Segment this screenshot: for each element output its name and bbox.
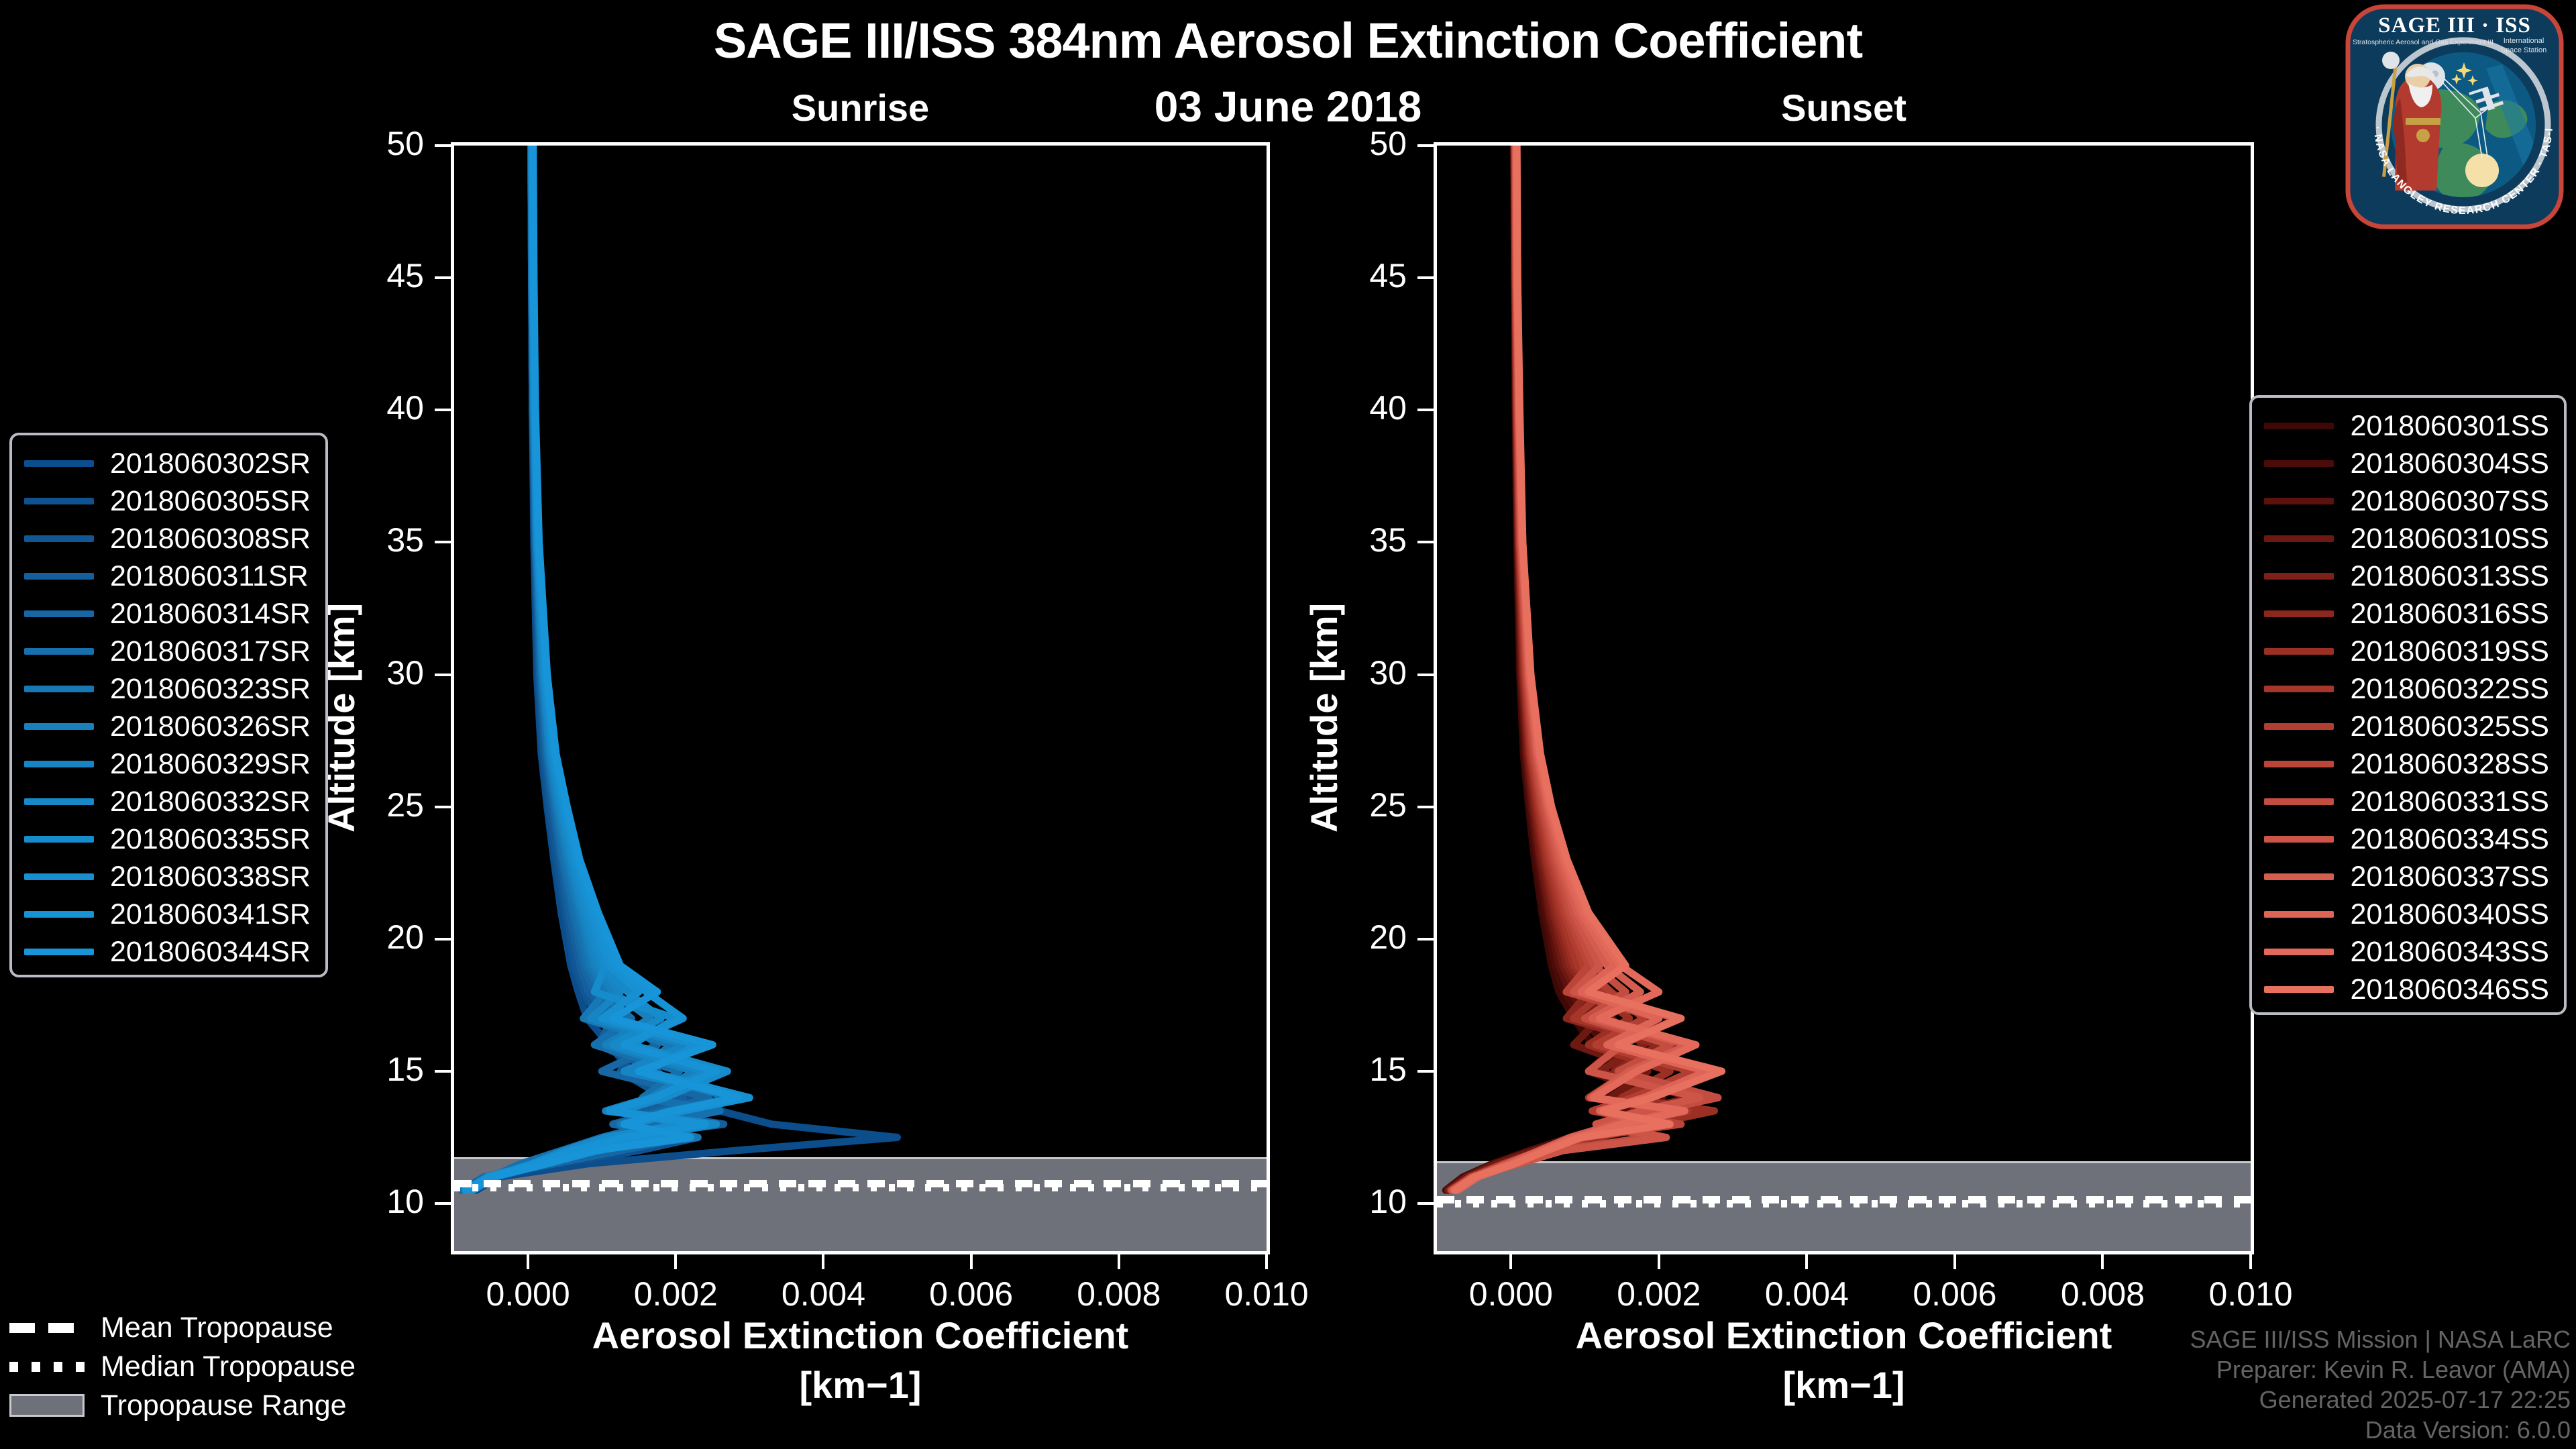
y-tick [1417,674,1434,676]
legend-item[interactable]: 2018060310SS [2264,520,2549,557]
logo-subtitle-right-2: Space Station [2501,46,2547,54]
legend-color-swatch [24,686,94,692]
logo-title: SAGE III · ISS [2378,13,2531,38]
legend-tropopause: Mean Tropopause Median Tropopause Tropop… [9,1308,358,1425]
legend-item[interactable]: 2018060322SS [2264,670,2549,708]
y-tick [435,938,451,941]
legend-item[interactable]: 2018060304SS [2264,445,2549,482]
legend-label: 2018060340SS [2350,898,2549,931]
x-tick [1509,1254,1512,1269]
legend-label: 2018060346SS [2350,973,2549,1006]
y-tick-label: 40 [1320,388,1407,427]
legend-item[interactable]: 2018060344SR [24,933,311,971]
legend-item[interactable]: 2018060308SR [24,520,311,557]
plot-panel-sunset [1434,142,2254,1254]
legend-label: 2018060337SS [2350,861,2549,894]
logo-subtitle-left: Stratospheric Aerosol and Gas Experiment… [2353,38,2493,46]
legend-color-swatch [24,573,94,580]
legend-label: 2018060302SR [110,447,311,480]
footer-preparer: Preparer: Kevin R. Leavor (AMA) [2190,1354,2571,1385]
legend-label: 2018060301SS [2350,410,2549,443]
y-tick [435,1070,451,1073]
sunrise-x-axis-units: [km−1] [451,1363,1270,1407]
legend-label: 2018060341SR [110,898,311,931]
sunrise-panel-title: Sunrise [451,86,1270,129]
sunset-series-lines [1437,146,2251,1251]
legend-item-median-tropopause: Median Tropopause [9,1347,358,1386]
footer-generated: Generated 2025-07-17 22:25 [2190,1385,2571,1415]
y-tick-label: 35 [1320,521,1407,559]
legend-color-swatch [24,949,94,955]
y-tick [1417,409,1434,411]
legend-item[interactable]: 2018060340SS [2264,896,2549,933]
legend-item[interactable]: 2018060337SS [2264,858,2549,896]
y-tick-label: 35 [337,521,424,559]
y-tick-label: 45 [1320,256,1407,295]
legend-color-swatch [24,761,94,767]
page-title: SAGE III/ISS 384nm Aerosol Extinction Co… [0,12,2576,69]
legend-item[interactable]: 2018060319SS [2264,633,2549,670]
legend-color-swatch [24,460,94,467]
x-tick [2101,1254,2104,1269]
legend-item[interactable]: 2018060329SR [24,745,311,783]
y-tick-label: 50 [337,124,424,163]
legend-item[interactable]: 2018060332SR [24,783,311,820]
y-tick-label: 10 [337,1182,424,1221]
legend-label: 2018060304SS [2350,447,2549,480]
sunset-x-axis-units: [km−1] [1434,1363,2254,1407]
sunset-panel-title: Sunset [1434,86,2254,129]
legend-item[interactable]: 2018060311SR [24,557,311,595]
x-tick [822,1254,824,1269]
y-tick [1417,276,1434,279]
filled-band-icon [9,1394,85,1417]
legend-color-swatch [2264,610,2334,617]
legend-label-median-tropopause: Median Tropopause [101,1350,356,1383]
legend-color-swatch [2264,573,2334,580]
x-tick [1265,1254,1268,1269]
legend-color-swatch [2264,836,2334,843]
legend-label: 2018060305SR [110,485,311,518]
legend-item[interactable]: 2018060334SS [2264,820,2549,858]
legend-color-swatch [2264,498,2334,504]
legend-color-swatch [2264,535,2334,542]
y-tick [1417,144,1434,147]
legend-color-swatch [2264,686,2334,692]
y-tick [1417,1070,1434,1073]
legend-label: 2018060334SS [2350,823,2549,856]
y-tick [1417,1202,1434,1205]
legend-item[interactable]: 2018060326SR [24,708,311,745]
legend-item[interactable]: 2018060341SR [24,896,311,933]
legend-color-swatch [24,723,94,730]
legend-label: 2018060329SR [110,748,311,781]
legend-item[interactable]: 2018060314SR [24,595,311,633]
legend-item[interactable]: 2018060316SS [2264,595,2549,633]
x-tick [1953,1254,1956,1269]
y-tick-label: 10 [1320,1182,1407,1221]
legend-color-swatch [24,798,94,805]
median-tropopause-line-sunset [1437,1200,2251,1207]
median-tropopause-line-sunrise [454,1184,1267,1191]
y-tick-label: 50 [1320,124,1407,163]
dotted-line-icon [9,1362,85,1372]
legend-item[interactable]: 2018060335SR [24,820,311,858]
legend-color-swatch [24,836,94,843]
legend-color-swatch [24,911,94,918]
legend-item[interactable]: 2018060325SS [2264,708,2549,745]
legend-label: 2018060325SS [2350,710,2549,743]
legend-label: 2018060322SS [2350,673,2549,706]
legend-label: 2018060343SS [2350,936,2549,969]
y-tick [435,541,451,543]
legend-label-tropopause-range: Tropopause Range [101,1389,347,1422]
legend-label: 2018060307SS [2350,485,2549,518]
x-tick-label: 0.010 [2163,1275,2338,1313]
legend-color-swatch [2264,873,2334,880]
y-tick-label: 15 [337,1050,424,1089]
x-tick [527,1254,529,1269]
legend-item[interactable]: 2018060317SR [24,633,311,670]
y-tick [1417,806,1434,808]
legend-color-swatch [2264,986,2334,993]
sunset-x-axis-title: Aerosol Extinction Coefficient [1434,1313,2254,1357]
y-tick [435,144,451,147]
legend-color-swatch [2264,423,2334,429]
legend-color-swatch [2264,911,2334,918]
logo-subtitle-right-1: International [2504,37,2544,45]
y-tick [435,276,451,279]
sunset-y-axis-title: Altitude [km] [1302,603,1346,833]
y-tick [435,1202,451,1205]
legend-label: 2018060314SR [110,598,311,631]
legend-item[interactable]: 2018060331SS [2264,783,2549,820]
dashed-line-icon [9,1323,85,1333]
figure-canvas: SAGE III/ISS 384nm Aerosol Extinction Co… [0,0,2576,1449]
legend-color-swatch [2264,949,2334,955]
legend-item[interactable]: 2018060301SS [2264,407,2549,445]
legend-color-swatch [2264,460,2334,467]
footer-data-version: Data Version: 6.0.0 [2190,1415,2571,1445]
plot-panel-sunrise [451,142,1270,1254]
legend-color-swatch [2264,648,2334,655]
legend-item[interactable]: 2018060346SS [2264,971,2549,1008]
legend-color-swatch [24,873,94,880]
legend-label-mean-tropopause: Mean Tropopause [101,1311,333,1344]
legend-label: 2018060317SR [110,635,311,668]
legend-label: 2018060319SS [2350,635,2549,668]
legend-item[interactable]: 2018060305SR [24,482,311,520]
legend-item[interactable]: 2018060313SS [2264,557,2549,595]
legend-label: 2018060332SR [110,786,311,818]
footer-mission: SAGE III/ISS Mission | NASA LaRC [2190,1324,2571,1354]
legend-label: 2018060308SR [110,523,311,555]
x-tick-label: 0.010 [1179,1275,1354,1313]
x-tick [970,1254,973,1269]
legend-label: 2018060344SR [110,936,311,969]
legend-color-swatch [2264,723,2334,730]
legend-label: 2018060323SR [110,673,311,706]
x-tick [1805,1254,1808,1269]
legend-item[interactable]: 2018060323SR [24,670,311,708]
legend-label: 2018060328SS [2350,748,2549,781]
y-tick-label: 40 [337,388,424,427]
x-tick [1658,1254,1660,1269]
legend-item[interactable]: 2018060338SR [24,858,311,896]
x-tick [2249,1254,2252,1269]
y-tick-label: 15 [1320,1050,1407,1089]
legend-label: 2018060313SS [2350,560,2549,593]
legend-label: 2018060338SR [110,861,311,894]
legend-label: 2018060311SR [110,560,309,593]
legend-color-swatch [24,535,94,542]
legend-label: 2018060326SR [110,710,311,743]
footer-credits: SAGE III/ISS Mission | NASA LaRC Prepare… [2190,1324,2571,1445]
y-tick [1417,938,1434,941]
legend-item[interactable]: 2018060343SS [2264,933,2549,971]
sage-iii-iss-logo: SAGE III · ISS Stratospheric Aerosol and… [2344,4,2565,229]
legend-item[interactable]: 2018060328SS [2264,745,2549,783]
y-tick [435,409,451,411]
legend-color-swatch [2264,761,2334,767]
legend-label: 2018060310SS [2350,523,2549,555]
y-tick [1417,541,1434,543]
legend-item-mean-tropopause: Mean Tropopause [9,1308,358,1347]
legend-color-swatch [24,610,94,617]
legend-sunrise-events[interactable]: 2018060302SR2018060305SR2018060308SR2018… [9,433,328,977]
legend-sunset-events[interactable]: 2018060301SS2018060304SS2018060307SS2018… [2249,395,2567,1015]
legend-item[interactable]: 2018060307SS [2264,482,2549,520]
legend-color-swatch [24,498,94,504]
legend-item-tropopause-range: Tropopause Range [9,1386,358,1425]
legend-label: 2018060335SR [110,823,311,856]
y-tick-label: 20 [337,918,424,957]
x-tick [674,1254,677,1269]
y-tick-label: 20 [1320,918,1407,957]
sunrise-x-axis-title: Aerosol Extinction Coefficient [451,1313,1270,1357]
y-tick [435,674,451,676]
sunrise-series-lines [454,146,1267,1251]
x-tick [1118,1254,1120,1269]
y-tick [435,806,451,808]
legend-item[interactable]: 2018060302SR [24,445,311,482]
legend-label: 2018060331SS [2350,786,2549,818]
legend-color-swatch [2264,798,2334,805]
legend-label: 2018060316SS [2350,598,2549,631]
legend-color-swatch [24,648,94,655]
y-tick-label: 45 [337,256,424,295]
